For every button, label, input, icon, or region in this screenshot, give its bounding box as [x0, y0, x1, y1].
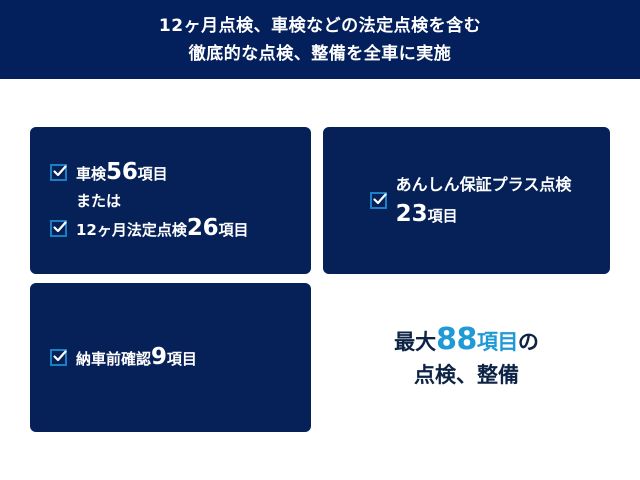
- summary-prefix: 最大: [394, 330, 436, 354]
- header-banner: 12ヶ月点検、車検などの法定点検を含む 徹底的な点検、整備を全車に実施: [0, 0, 640, 79]
- summary-line-1: 最大88項目の: [394, 323, 539, 359]
- card-inspection-body: 車検56項目 または 12ヶ月法定点検26項目: [30, 127, 311, 274]
- card-predelivery-check: 納車前確認9項目: [30, 283, 311, 432]
- inspection-row-or-text: または: [76, 190, 121, 212]
- warranty-line-1: あんしん保証プラス点検: [396, 171, 572, 199]
- inspection-summary-page: 12ヶ月点検、車検などの法定点検を含む 徹底的な点検、整備を全車に実施 車検56…: [0, 0, 640, 480]
- card-warranty-plus-inspection: あんしん保証プラス点検 23項目: [323, 127, 610, 274]
- summary-total-number: 88: [436, 322, 477, 357]
- inspection-row-legal: 12ヶ月法定点検26項目: [50, 217, 299, 241]
- predelivery-number: 9: [151, 344, 167, 370]
- inspection-shaken-number: 56: [106, 159, 138, 185]
- checkbox-checked-icon: [50, 349, 67, 366]
- warranty-line-2: 23項目: [396, 199, 572, 231]
- warranty-number: 23: [396, 201, 428, 227]
- summary-suffix: の: [518, 330, 539, 354]
- predelivery-row: 納車前確認9項目: [50, 346, 299, 370]
- inspection-row-or: または: [50, 190, 299, 212]
- inspection-shaken-suffix: 項目: [138, 165, 168, 183]
- checkbox-checked-icon: [370, 192, 387, 209]
- inspection-shaken-prefix: 車検: [76, 165, 106, 183]
- checkbox-checked-icon: [50, 220, 67, 237]
- predelivery-prefix: 納車前確認: [76, 350, 151, 368]
- inspection-row-shaken-text: 車検56項目: [76, 161, 168, 185]
- card-predelivery-body: 納車前確認9項目: [30, 283, 311, 432]
- inspection-legal-number: 26: [187, 215, 219, 241]
- inspection-row-legal-text: 12ヶ月法定点検26項目: [76, 217, 249, 241]
- warranty-text-stack: あんしん保証プラス点検 23項目: [396, 171, 572, 231]
- predelivery-suffix: 項目: [167, 350, 197, 368]
- warranty-suffix: 項目: [428, 207, 458, 225]
- card-inspection-items: 車検56項目 または 12ヶ月法定点検26項目: [30, 127, 311, 274]
- card-warranty-body: あんしん保証プラス点検 23項目: [323, 127, 610, 274]
- inspection-legal-prefix: 12ヶ月法定点検: [76, 221, 187, 239]
- inspection-row-shaken: 車検56項目: [50, 161, 299, 185]
- header-line-1: 12ヶ月点検、車検などの法定点検を含む: [159, 12, 481, 40]
- summary-mid: 項目: [477, 330, 518, 354]
- predelivery-row-text: 納車前確認9項目: [76, 346, 197, 370]
- inspection-legal-suffix: 項目: [218, 221, 248, 239]
- header-line-2: 徹底的な点検、整備を全車に実施: [189, 40, 452, 68]
- checkbox-checked-icon: [50, 164, 67, 181]
- summary-line-2: 点検、整備: [414, 359, 519, 392]
- summary-total: 最大88項目の 点検、整備: [323, 283, 610, 432]
